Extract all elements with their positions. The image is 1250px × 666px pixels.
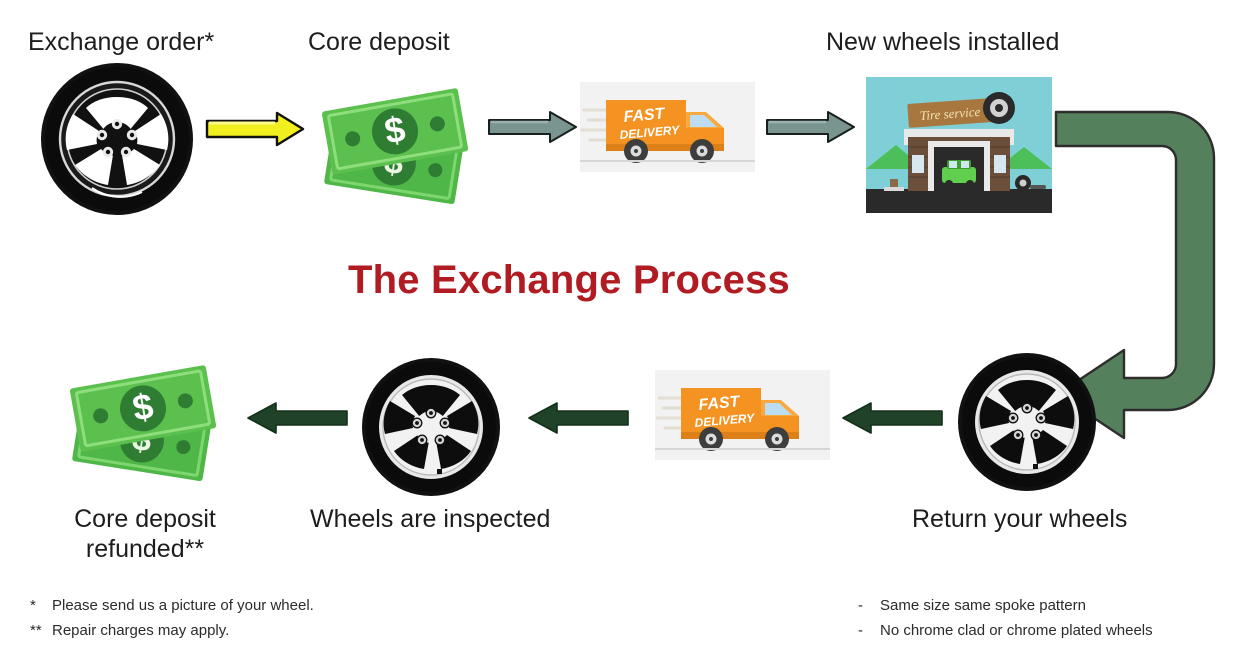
footnote-right-1: -Same size same spoke pattern — [858, 597, 1086, 614]
label-new-wheels-installed: New wheels installed — [826, 28, 1059, 58]
footnote-text: No chrome clad or chrome plated wheels — [880, 622, 1153, 639]
wheel-silver-icon — [953, 352, 1101, 492]
tire-service-shop-icon: Tire service — [866, 77, 1052, 213]
wheel-dark-icon — [38, 62, 196, 217]
footnote-left-2: **Repair charges may apply. — [30, 622, 229, 639]
cash-icon: $ $ — [60, 352, 230, 482]
label-core-deposit: Core deposit — [308, 28, 450, 58]
wheel-silver-icon — [357, 357, 505, 497]
footnote-text: Please send us a picture of your wheel. — [52, 597, 314, 614]
arrow-inspect-to-refund — [246, 402, 348, 434]
page-title: The Exchange Process — [348, 258, 790, 303]
footnote-marker: ** — [30, 622, 52, 639]
footnote-marker: - — [858, 597, 880, 614]
delivery-van-icon: FAST DELIVERY — [580, 82, 755, 172]
label-core-deposit-refunded: Core deposit refunded** — [40, 505, 250, 564]
arrow-return-to-shipping-back — [841, 402, 943, 434]
footnote-marker: - — [858, 622, 880, 639]
delivery-van-icon: FAST DELIVERY — [655, 370, 830, 460]
arrow-deposit-to-shipping — [488, 110, 578, 144]
label-wheels-are-inspected: Wheels are inspected — [310, 505, 550, 535]
label-return-your-wheels: Return your wheels — [912, 505, 1127, 535]
footnote-right-2: -No chrome clad or chrome plated wheels — [858, 622, 1153, 639]
footnote-text: Repair charges may apply. — [52, 622, 229, 639]
footnote-text: Same size same spoke pattern — [880, 597, 1086, 614]
label-exchange-order: Exchange order* — [28, 28, 214, 58]
footnote-left-1: *Please send us a picture of your wheel. — [30, 597, 314, 614]
arrow-shipping-back-to-inspect — [527, 402, 629, 434]
exchange-process-diagram: Exchange order* Core deposit New wheels … — [0, 0, 1250, 666]
cash-icon: $ $ — [312, 75, 482, 205]
arrow-order-to-deposit — [205, 110, 305, 148]
arrow-shipping-to-install — [766, 110, 856, 144]
footnote-marker: * — [30, 597, 52, 614]
